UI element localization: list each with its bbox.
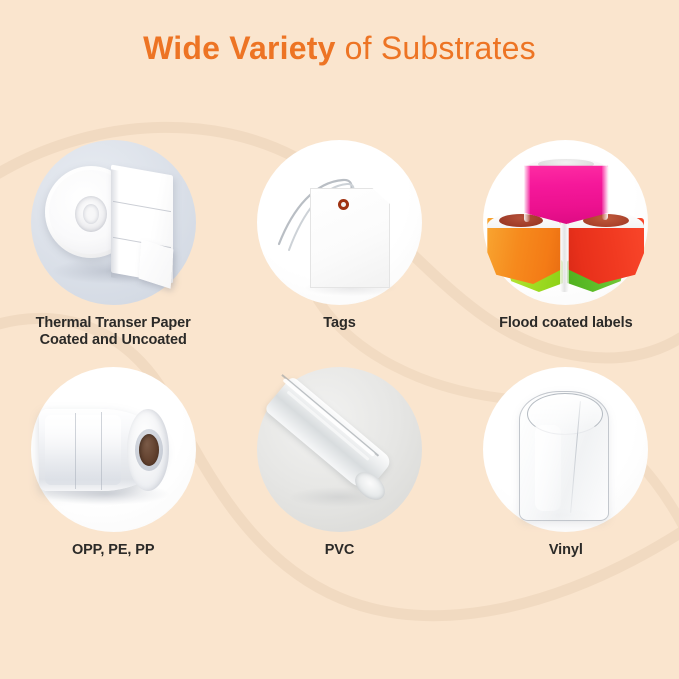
flood-roll-magenta	[524, 162, 608, 224]
caption-line-1: Thermal Transer Paper	[36, 315, 191, 331]
substrate-item-flood-coated-labels: Flood coated labels	[453, 140, 679, 349]
substrate-item-pvc: PVC	[226, 367, 452, 559]
substrate-item-tags: Tags	[226, 140, 452, 349]
shipping-tag-image	[257, 140, 422, 305]
substrate-row-top: Thermal Transer Paper Coated and Uncoate…	[0, 140, 679, 349]
page-title-container: Wide Variety of Substrates	[0, 28, 679, 68]
caption-flood-coated-labels: Flood coated labels	[499, 315, 632, 332]
caption-thermal-transfer-paper: Thermal Transer Paper Coated and Uncoate…	[36, 315, 191, 349]
film-wrap-highlight	[45, 415, 121, 485]
roll-core-hole	[83, 204, 99, 224]
substrate-item-opp-pe-pp: OPP, PE, PP	[0, 367, 226, 559]
caption-pvc: PVC	[325, 542, 355, 559]
vinyl-highlight	[535, 425, 561, 511]
caption-line-1: Tags	[323, 315, 355, 331]
page-title-light: of Substrates	[336, 30, 536, 66]
caption-line-2: Coated and Uncoated	[36, 332, 191, 349]
vinyl-curl-edge	[527, 393, 603, 435]
film-core-hole	[139, 434, 159, 466]
caption-tags: Tags	[323, 315, 355, 332]
substrate-grid: Thermal Transer Paper Coated and Uncoate…	[0, 140, 679, 559]
page-title-strong: Wide Variety	[143, 30, 335, 66]
thermal-label-roll-image	[31, 140, 196, 305]
substrates-infographic: Wide Variety of Substrates	[0, 0, 679, 679]
roll-label-web-edge	[111, 169, 119, 278]
substrate-item-thermal-transfer-paper: Thermal Transer Paper Coated and Uncoate…	[0, 140, 226, 349]
film-seam-right	[101, 412, 102, 490]
caption-vinyl: Vinyl	[549, 542, 583, 559]
flood-roll-stack	[483, 140, 648, 305]
substrate-item-vinyl: Vinyl	[453, 367, 679, 559]
flood-roll-magenta-edge-left	[524, 164, 530, 222]
caption-line-1: PVC	[325, 542, 355, 558]
clear-vinyl-sheet-image	[483, 367, 648, 532]
flood-roll-seam	[560, 218, 569, 292]
caption-line-1: Vinyl	[549, 542, 583, 558]
clear-pvc-sheet-image	[257, 367, 422, 532]
tag-eyelet-hole	[341, 202, 346, 207]
tag-card-body	[310, 188, 390, 288]
caption-opp-pe-pp: OPP, PE, PP	[72, 542, 154, 559]
plastic-film-roll-image	[31, 367, 196, 532]
flood-roll-magenta-edge-right	[602, 164, 608, 220]
page-title: Wide Variety of Substrates	[0, 28, 679, 68]
flood-coated-label-rolls-image	[483, 140, 648, 305]
caption-line-1: Flood coated labels	[499, 315, 632, 331]
film-seam-left	[75, 413, 76, 489]
substrate-row-bottom: OPP, PE, PP PVC	[0, 367, 679, 559]
caption-line-1: OPP, PE, PP	[72, 542, 154, 558]
